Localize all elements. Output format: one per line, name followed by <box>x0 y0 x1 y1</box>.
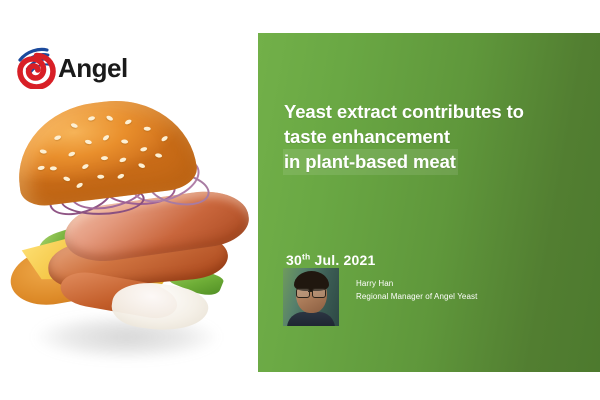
presenter-headshot <box>283 268 339 326</box>
presentation-date: 30th Jul. 2021 <box>286 252 375 268</box>
presenter-name: Harry Han <box>356 278 477 291</box>
angel-logo: Angel <box>14 45 144 91</box>
left-visual-panel: Angel <box>0 0 258 400</box>
date-day: 30 <box>286 252 302 268</box>
presenter-block: Harry Han Regional Manager of Angel Yeas… <box>283 268 583 330</box>
photo-glasses-bridge <box>308 291 312 292</box>
title-line-1: Yeast extract contributes to <box>284 99 584 124</box>
presentation-slide: Angel <box>0 0 600 400</box>
angel-spiral-logo-icon <box>14 47 58 89</box>
plant-based-burger-photo <box>4 96 256 386</box>
slide-title: Yeast extract contributes to taste enhan… <box>284 99 584 175</box>
presenter-role: Regional Manager of Angel Yeast <box>356 291 477 304</box>
photo-shoulders <box>287 312 335 326</box>
photo-glasses-right <box>312 288 326 298</box>
title-line-3: in plant-based meat <box>283 149 458 175</box>
photo-glasses-left <box>296 288 310 298</box>
date-rest: Jul. 2021 <box>310 252 375 268</box>
presenter-details: Harry Han Regional Manager of Angel Yeas… <box>356 278 477 303</box>
title-line-2: taste enhancement <box>284 124 584 149</box>
green-content-panel: Yeast extract contributes to taste enhan… <box>258 33 600 372</box>
angel-wordmark: Angel <box>58 55 128 81</box>
